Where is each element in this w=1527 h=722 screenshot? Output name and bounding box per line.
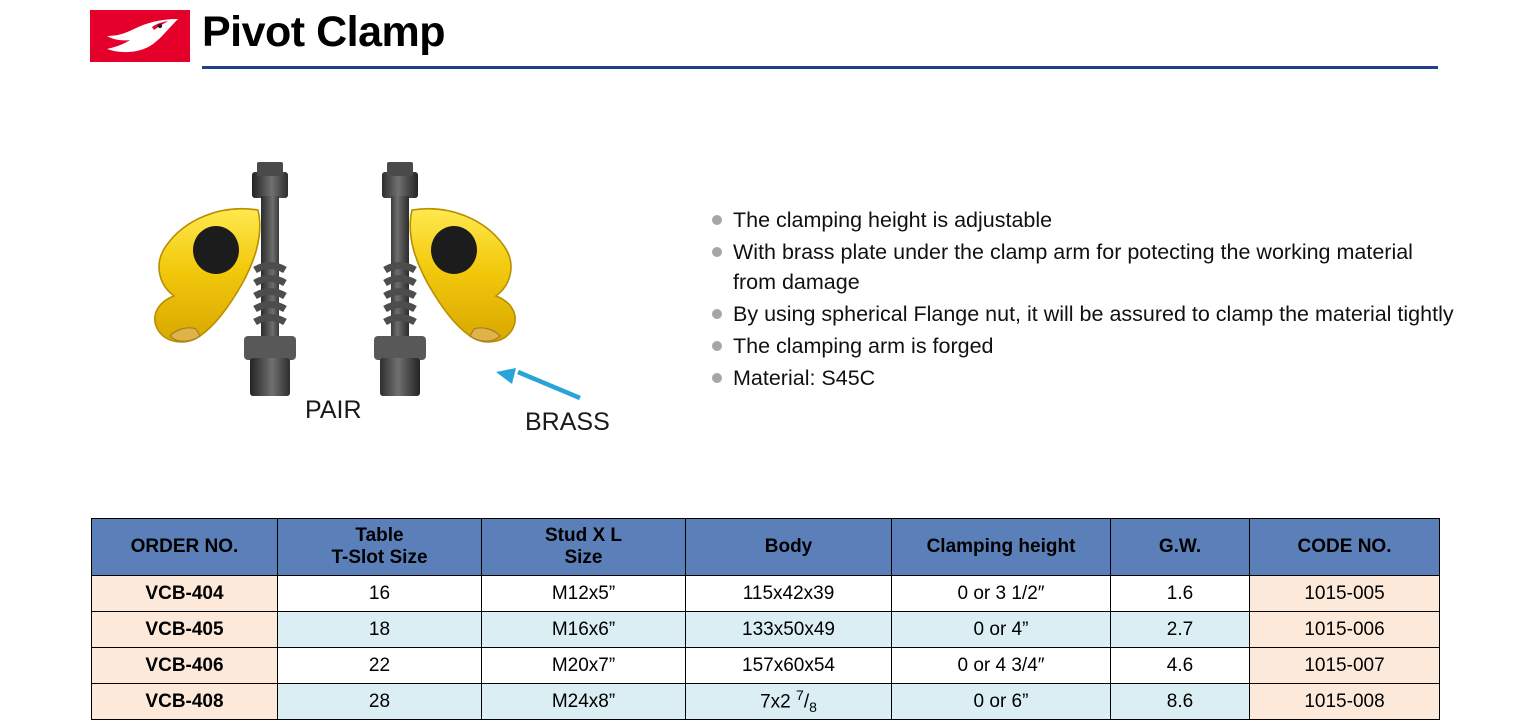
cell-gw: 8.6 [1111,684,1250,720]
col-header-body: Body [686,519,892,576]
cell-clamping-height: 0 or 6” [892,684,1111,720]
feature-list: The clamping height is adjustable With b… [712,205,1472,395]
cell-order-no: VCB-404 [92,576,278,612]
list-item: With brass plate under the clamp arm for… [712,237,1472,297]
col-header-line: Body [765,536,813,557]
cell-code-no: 1015-007 [1250,648,1440,684]
cell-t-slot: 18 [278,612,482,648]
col-header-line: G.W. [1159,536,1201,557]
cell-body: 7x2 7/8 [686,684,892,720]
cell-code-no: 1015-006 [1250,612,1440,648]
col-header-line: Table [355,525,403,546]
brass-label: BRASS [525,408,610,437]
bullet-icon [712,373,722,383]
col-header-line: ORDER NO. [131,536,239,557]
list-item: The clamping height is adjustable [712,205,1472,235]
cell-stud: M20x7” [482,648,686,684]
cell-gw: 4.6 [1111,648,1250,684]
col-header-line: T-Slot Size [331,547,427,568]
feature-text: By using spherical Flange nut, it will b… [733,299,1454,329]
page-title: Pivot Clamp [202,4,445,60]
cell-body: 157x60x54 [686,648,892,684]
pair-label: PAIR [305,396,362,425]
brass-callout-arrow-icon [496,368,580,398]
table-row: VCB-404 16 M12x5” 115x42x39 0 or 3 1/2″ … [92,576,1440,612]
cell-body-prefix: 7x2 [760,692,796,713]
cell-order-no: VCB-406 [92,648,278,684]
header-divider [202,66,1438,69]
cell-clamping-height: 0 or 3 1/2″ [892,576,1111,612]
cell-t-slot: 16 [278,576,482,612]
product-illustration [140,150,680,450]
col-header-gw: G.W. [1111,519,1250,576]
bullet-icon [712,341,722,351]
col-header-line: CODE NO. [1298,536,1392,557]
page: Pivot Clamp [0,0,1527,722]
list-item: Material: S45C [712,363,1472,393]
bullet-icon [712,215,722,225]
table-row: VCB-406 22 M20x7” 157x60x54 0 or 4 3/4″ … [92,648,1440,684]
feature-text: With brass plate under the clamp arm for… [733,237,1459,297]
col-header-clamping-height: Clamping height [892,519,1111,576]
cell-body-numerator: 7 [796,687,804,703]
cell-body: 115x42x39 [686,576,892,612]
list-item: By using spherical Flange nut, it will b… [712,299,1472,329]
cell-body-denominator: 8 [809,700,817,716]
specification-table: ORDER NO. Table T-Slot Size Stud X L Siz… [91,518,1440,720]
table-row: VCB-408 28 M24x8” 7x2 7/8 0 or 6” 8.6 10… [92,684,1440,720]
bullet-icon [712,247,722,257]
col-header-line: Stud X L [545,525,622,546]
bullet-icon [712,309,722,319]
feature-text: The clamping arm is forged [733,331,994,361]
eagle-head-logo-icon [90,10,190,62]
col-header-stud-size: Stud X L Size [482,519,686,576]
cell-stud: M12x5” [482,576,686,612]
cell-clamping-height: 0 or 4” [892,612,1111,648]
cell-code-no: 1015-005 [1250,576,1440,612]
cell-clamping-height: 0 or 4 3/4″ [892,648,1111,684]
cell-gw: 2.7 [1111,612,1250,648]
col-header-code-no: CODE NO. [1250,519,1440,576]
col-header-order-no: ORDER NO. [92,519,278,576]
list-item: The clamping arm is forged [712,331,1472,361]
table-row: VCB-405 18 M16x6” 133x50x49 0 or 4” 2.7 … [92,612,1440,648]
cell-t-slot: 28 [278,684,482,720]
table-header-row: ORDER NO. Table T-Slot Size Stud X L Siz… [92,519,1440,576]
cell-stud: M24x8” [482,684,686,720]
col-header-t-slot-size: Table T-Slot Size [278,519,482,576]
cell-body: 133x50x49 [686,612,892,648]
col-header-line: Clamping height [927,536,1076,557]
page-header: Pivot Clamp [90,4,1438,70]
cell-stud: M16x6” [482,612,686,648]
cell-order-no: VCB-405 [92,612,278,648]
cell-order-no: VCB-408 [92,684,278,720]
cell-code-no: 1015-008 [1250,684,1440,720]
col-header-line: Size [564,547,602,568]
feature-text: The clamping height is adjustable [733,205,1052,235]
cell-gw: 1.6 [1111,576,1250,612]
feature-text: Material: S45C [733,363,875,393]
cell-t-slot: 22 [278,648,482,684]
